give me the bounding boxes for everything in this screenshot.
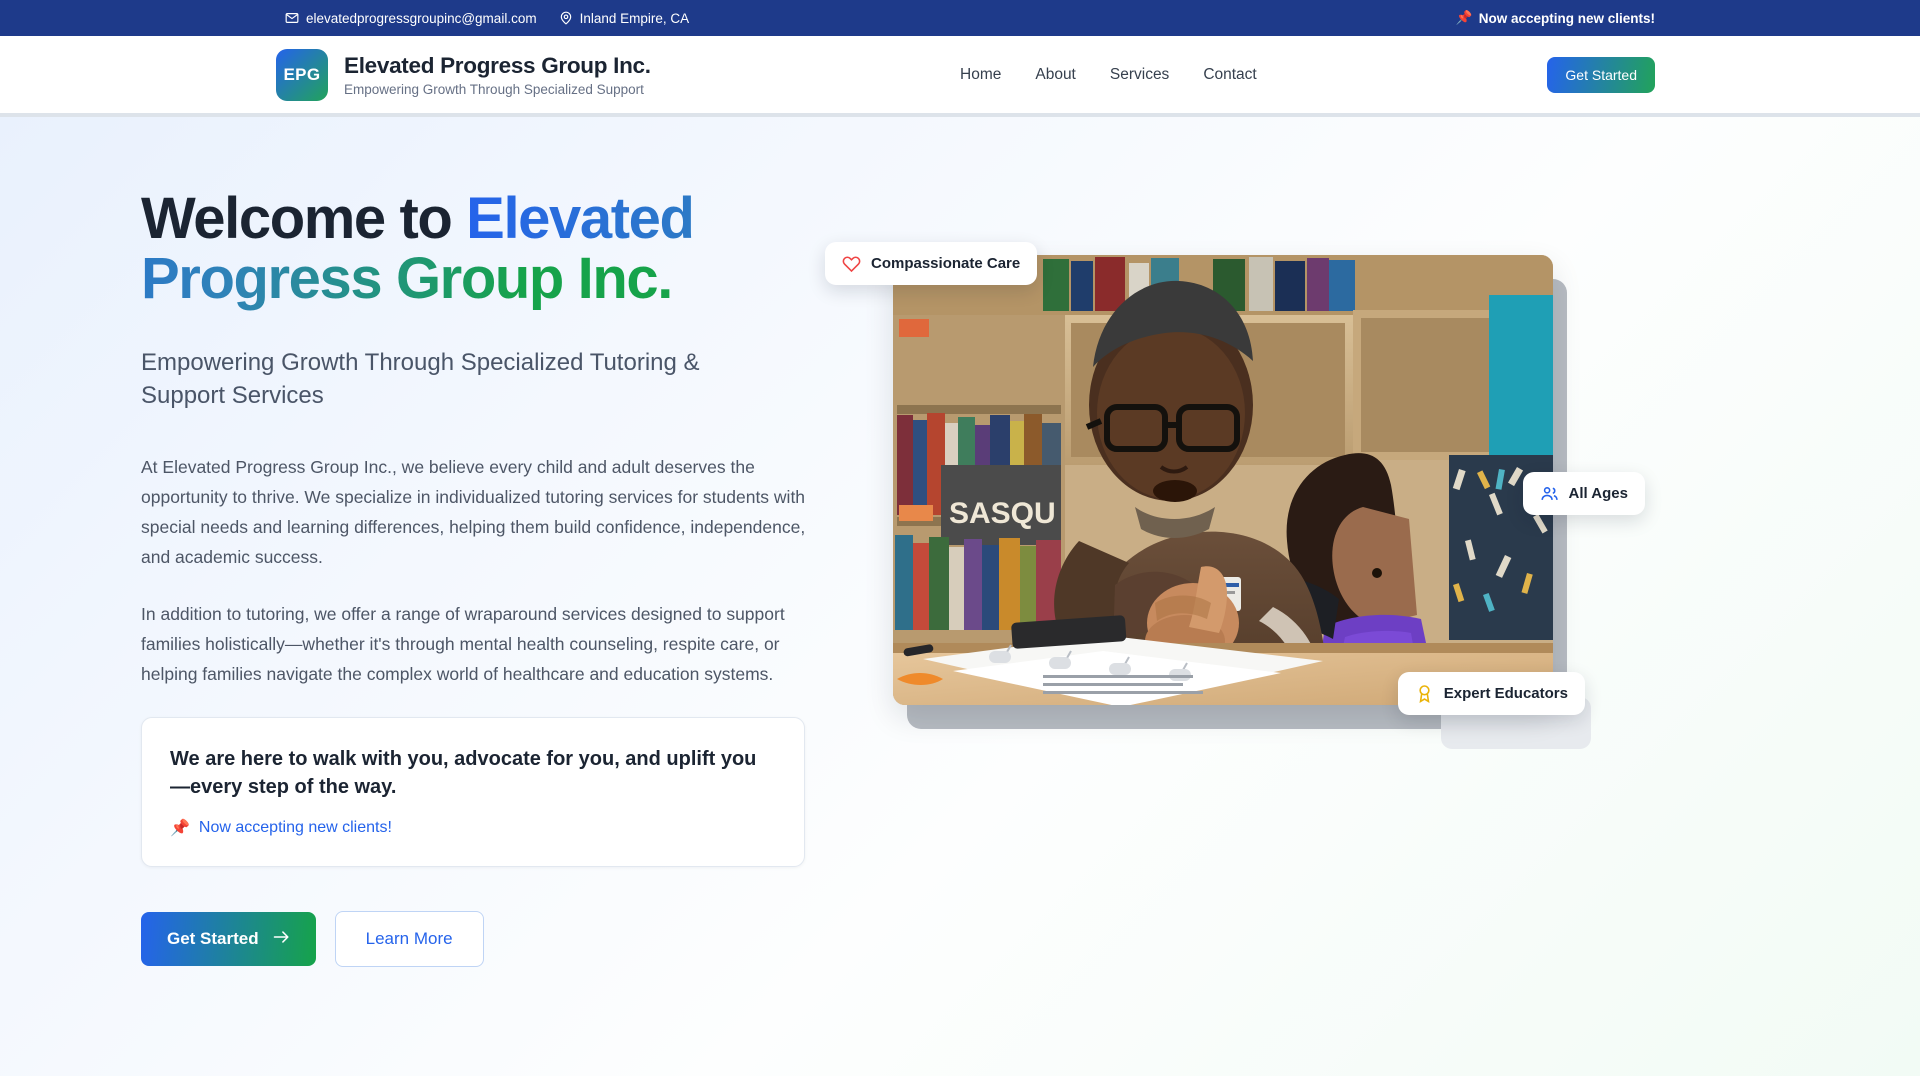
map-pin-icon (559, 11, 573, 25)
announcement-bar: elevatedprogressgroupinc@gmail.com Inlan… (0, 0, 1920, 36)
company-tagline: Empowering Growth Through Specialized Su… (344, 82, 651, 97)
company-name: Elevated Progress Group Inc. (344, 53, 651, 79)
badge-expert-educators: Expert Educators (1398, 672, 1585, 715)
quote-availability-note: 📌 Now accepting new clients! (170, 818, 776, 838)
highlight-quote-card: We are here to walk with you, advocate f… (141, 717, 805, 868)
pushpin-emoji: 📌 (1456, 10, 1473, 26)
badge-compassionate-care: Compassionate Care (825, 242, 1037, 285)
award-icon (1415, 684, 1434, 703)
mail-icon (285, 11, 299, 25)
heart-icon (842, 254, 861, 273)
hero-learn-more-button[interactable]: Learn More (335, 911, 484, 967)
site-header: EPG Elevated Progress Group Inc. Empower… (0, 36, 1920, 117)
hero-get-started-label: Get Started (167, 929, 259, 949)
topbar-contact-group: elevatedprogressgroupinc@gmail.com Inlan… (285, 11, 689, 26)
badge-expert-educators-label: Expert Educators (1444, 685, 1568, 702)
topbar-announcement: 📌 Now accepting new clients! (1456, 10, 1655, 26)
logo-badge: EPG (276, 49, 328, 101)
topbar-email-text: elevatedprogressgroupinc@gmail.com (306, 11, 537, 26)
quote-text: We are here to walk with you, advocate f… (170, 745, 776, 802)
nav-item-contact[interactable]: Contact (1203, 66, 1256, 84)
topbar-location: Inland Empire, CA (559, 11, 690, 26)
nav-item-about[interactable]: About (1035, 66, 1076, 84)
hero-paragraph-2: In addition to tutoring, we offer a rang… (141, 599, 821, 689)
brand-logo-group[interactable]: EPG Elevated Progress Group Inc. Empower… (276, 49, 651, 101)
users-icon (1540, 484, 1559, 503)
header-get-started-button[interactable]: Get Started (1547, 57, 1655, 93)
badge-compassionate-care-label: Compassionate Care (871, 255, 1020, 272)
topbar-announcement-text: Now accepting new clients! (1479, 11, 1655, 26)
headline-plain: Welcome to (141, 186, 466, 251)
hero-paragraph-1: At Elevated Progress Group Inc., we beli… (141, 452, 821, 572)
hero-text-column: Welcome to Elevated Progress Group Inc. … (141, 117, 841, 967)
nav-item-services[interactable]: Services (1110, 66, 1169, 84)
hero-get-started-button[interactable]: Get Started (141, 912, 316, 966)
badge-all-ages-label: All Ages (1569, 485, 1628, 502)
topbar-location-text: Inland Empire, CA (580, 11, 690, 26)
hero-photo: SASQU (893, 255, 1553, 705)
quote-note-text: Now accepting new clients! (199, 819, 392, 837)
hero-image-column: SASQU (893, 117, 1553, 967)
topbar-email[interactable]: elevatedprogressgroupinc@gmail.com (285, 11, 537, 26)
pushpin-emoji: 📌 (170, 818, 190, 838)
svg-text:SASQU: SASQU (949, 497, 1056, 530)
hero-subheadline: Empowering Growth Through Specialized Tu… (141, 346, 771, 412)
arrow-right-icon (273, 929, 290, 949)
page-title: Welcome to Elevated Progress Group Inc. (141, 189, 841, 310)
hero-cta-row: Get Started Learn More (141, 911, 841, 967)
brand-text-group: Elevated Progress Group Inc. Empowering … (344, 53, 651, 97)
main-navigation: Home About Services Contact (960, 66, 1257, 84)
nav-item-home[interactable]: Home (960, 66, 1001, 84)
badge-all-ages: All Ages (1523, 472, 1645, 515)
hero-section: Welcome to Elevated Progress Group Inc. … (0, 117, 1920, 1076)
